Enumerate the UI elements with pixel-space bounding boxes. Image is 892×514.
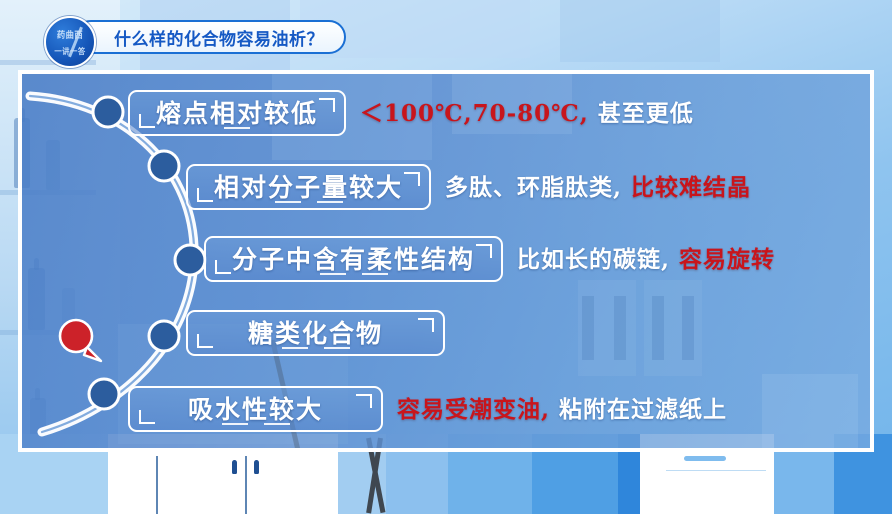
chip-label: 熔点相对较低 (156, 101, 318, 126)
panel-decor-shape (614, 296, 626, 360)
chip-row-5[interactable]: 吸水性较大 (128, 386, 383, 432)
arc-node (175, 245, 205, 275)
background-floor-line (245, 456, 247, 514)
location-pin-marker[interactable] (54, 314, 106, 366)
chip-row-2[interactable]: 相对分子量较大 (186, 164, 431, 210)
title-pill: 什么样的化合物容易油析？ (74, 20, 346, 54)
logo-glyph-bottom: 一讲一答 (48, 18, 92, 66)
note-red-text: 容易受潮变油, (397, 396, 550, 423)
note-row-3: 比如长的碳链, 容易旋转 (517, 248, 775, 271)
list-item[interactable]: 糖类化合物 (186, 310, 459, 356)
corner-bracket-icon (215, 260, 231, 274)
list-item[interactable]: 吸水性较大 容易受潮变油, 粘附在过滤纸上 (128, 386, 727, 432)
list-item[interactable]: 相对分子量较大 多肽、环脂肽类, 比较难结晶 (186, 164, 751, 210)
corner-bracket-icon (418, 318, 434, 332)
note-white-text: 多肽、环脂肽类, (445, 174, 622, 201)
list-item[interactable]: 分子中含有柔性结构 比如长的碳链, 容易旋转 (204, 236, 775, 282)
background-pane (560, 0, 720, 62)
list-item[interactable]: 熔点相对较低 ＜100℃,70-80℃, 甚至更低 (128, 90, 694, 136)
chip-label: 相对分子量较大 (214, 175, 403, 200)
note-red-text: 容易旋转 (679, 246, 775, 273)
note-white-text: 甚至更低 (598, 100, 694, 127)
panel-inner: 熔点相对较低 ＜100℃,70-80℃, 甚至更低 相对分子量较大 (22, 74, 870, 448)
corner-bracket-icon (404, 172, 420, 186)
background-cabinet-handle (684, 456, 726, 461)
chip-label: 糖类化合物 (248, 321, 383, 346)
background-marker (254, 460, 259, 474)
background-floor-line (156, 456, 158, 514)
note-red-text: ＜100℃,70-80℃, (360, 100, 589, 127)
arc-node (149, 321, 179, 351)
note-row-2: 多肽、环脂肽类, 比较难结晶 (445, 176, 751, 199)
chip-label: 分子中含有柔性结构 (232, 247, 475, 272)
panel-decor-shape (762, 374, 858, 452)
corner-bracket-icon (356, 394, 372, 408)
arc-node (93, 97, 123, 127)
note-white-text: 比如长的碳链, (517, 246, 670, 273)
chip-label: 吸水性较大 (188, 397, 323, 422)
brand-logo-icon[interactable]: 药曲西 一讲一答 (44, 16, 96, 68)
content-panel: 熔点相对较低 ＜100℃,70-80℃, 甚至更低 相对分子量较大 (18, 70, 874, 452)
background-marker (232, 460, 237, 474)
page-title: 什么样的化合物容易油析？ (114, 25, 324, 50)
chip-row-3[interactable]: 分子中含有柔性结构 (204, 236, 503, 282)
corner-bracket-icon (139, 410, 155, 424)
corner-bracket-icon (197, 188, 213, 202)
panel-decor-shape (652, 296, 664, 360)
background-cabinet-handle (666, 470, 766, 471)
note-row-1: ＜100℃,70-80℃, 甚至更低 (360, 102, 694, 125)
corner-bracket-icon (319, 98, 335, 112)
chip-row-1[interactable]: 熔点相对较低 (128, 90, 346, 136)
arc-node (89, 379, 119, 409)
chip-row-4[interactable]: 糖类化合物 (186, 310, 445, 356)
note-red-text: 比较难结晶 (631, 174, 751, 201)
note-white-text: 粘附在过滤纸上 (559, 396, 727, 423)
panel-decor-shape (682, 296, 694, 360)
panel-decor-shape (582, 296, 594, 360)
corner-bracket-icon (476, 244, 492, 258)
corner-bracket-icon (197, 334, 213, 348)
arc-node (149, 151, 179, 181)
note-row-5: 容易受潮变油, 粘附在过滤纸上 (397, 398, 727, 421)
corner-bracket-icon (139, 114, 155, 128)
